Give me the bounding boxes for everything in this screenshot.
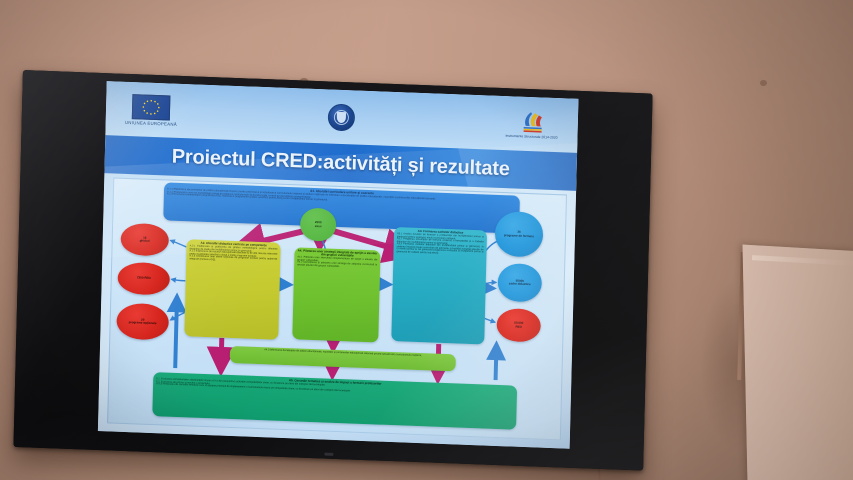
tv-power-indicator	[324, 453, 333, 456]
result-ghiduri[interactable]: 18 ghiduri	[120, 223, 169, 257]
activity-box-a1[interactable]: A1. Abordări curriculare unitare și coer…	[163, 182, 520, 233]
pocu-logo-block: Instrumente Structurale 2014-2020	[511, 109, 552, 138]
activities-diagram: A1. Abordări curriculare unitare și coer…	[107, 177, 567, 440]
result-red-50000[interactable]: 50.000 RED	[496, 308, 541, 343]
wall-mark	[760, 80, 767, 86]
structural-funds-icon	[516, 110, 547, 135]
government-logo-block	[327, 103, 355, 131]
pocu-logo-caption: Instrumente Structurale 2014-2020	[505, 134, 557, 140]
wall-panel	[742, 245, 853, 480]
activity-box-a4[interactable]: A4. Pilotarea unor strategii integrate d…	[292, 247, 380, 342]
activity-box-a2[interactable]: A2. Abordări didactice centrate pe compe…	[184, 239, 280, 339]
tv-screen: UNIUNEA EUROPEANĂ	[98, 81, 579, 449]
gov-seal-icon	[327, 103, 355, 131]
result-red-7200[interactable]: 7200 RED	[117, 262, 170, 296]
a4-line-2: A4.2 Dezvoltarea și pilotarea unor strat…	[297, 262, 377, 270]
activity-box-a43[interactable]: A4.3 Informarea decidenților de politici…	[230, 346, 456, 371]
result-elevi[interactable]: 2500 elevi	[300, 208, 337, 242]
eu-logo-caption: UNIUNEA EUROPEANĂ	[125, 120, 177, 127]
eu-stars-icon	[133, 95, 170, 120]
gov-seal-crest	[336, 111, 345, 122]
slide-title: Proiectul CRED:activități și rezultate	[172, 145, 510, 181]
a43-line-1: A4.3 Informarea decidenților de politici…	[233, 348, 453, 359]
wall-mounted-tv: UNIUNEA EUROPEANĂ	[13, 70, 652, 471]
result-elevi-label: elevi	[315, 225, 322, 229]
result-red-50000-label: RED	[515, 325, 521, 329]
result-cadre-didactice-label: cadre didactice	[509, 282, 531, 286]
result-red-7200-value: 7200 RED	[137, 277, 151, 281]
activity-box-a5[interactable]: A5. Cercetări tematice și analize de imp…	[152, 372, 517, 430]
result-programe-optionale-label: programe opționale	[129, 321, 157, 325]
a2-line-3: A.2.3 Construirea unei oferte naționale …	[189, 256, 277, 264]
room-scene: UNIUNEA EUROPEANĂ	[0, 0, 853, 480]
result-programe-formare[interactable]: 36 programe de formare	[494, 211, 543, 258]
a3-line-3: A3.3 Formarea cadrelor didactice din înv…	[396, 243, 483, 257]
eu-logo-block: UNIUNEA EUROPEANĂ	[132, 94, 171, 126]
result-ghiduri-label: ghiduri	[140, 239, 150, 243]
activity-box-a3[interactable]: A3. Formarea cadrelor didactice A3.1 Ana…	[391, 227, 487, 344]
result-cadre-didactice[interactable]: 55000 cadre didactice	[497, 263, 542, 303]
result-programe-formare-label: programe de formare	[504, 234, 534, 238]
eu-flag-icon	[132, 94, 171, 120]
result-programe-optionale[interactable]: 20 programe opționale	[116, 303, 169, 341]
presentation-slide: UNIUNEA EUROPEANĂ	[98, 81, 579, 449]
pocu-flame-icon	[516, 110, 547, 135]
